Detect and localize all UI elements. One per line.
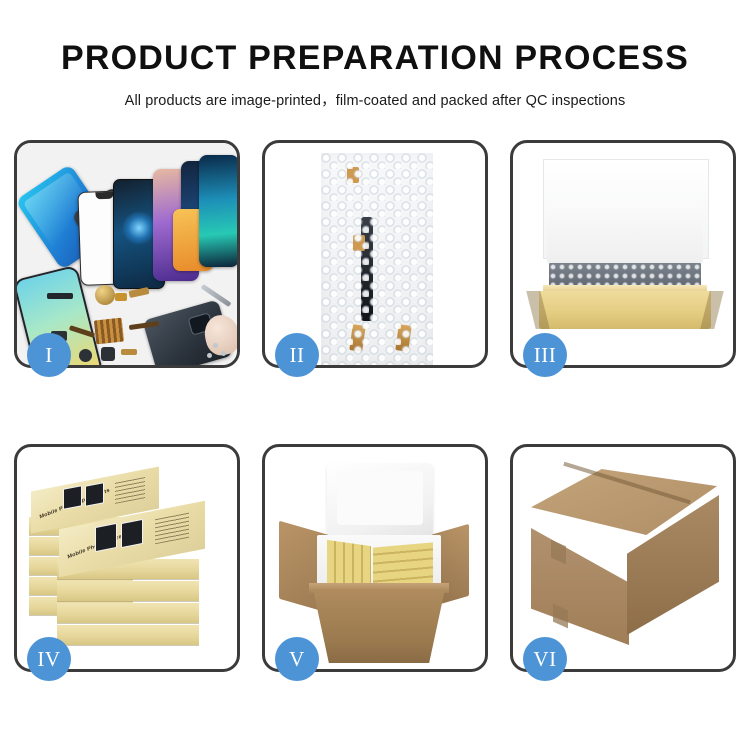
process-step-panel-3[interactable]: III (510, 140, 736, 368)
step-5-illustration (265, 447, 485, 669)
foam-lid-open-icon (327, 463, 433, 537)
step-3-illustration (513, 143, 733, 365)
step-4-illustration: Mobile Phone Spare Parts Mobile Phone Sp… (17, 447, 237, 669)
step-badge-2: II (275, 333, 319, 377)
phone-print-thumbnail (95, 523, 117, 552)
taptic-engine-icon (101, 347, 115, 361)
bubble-wrap-sleeve (321, 153, 433, 365)
vibration-motor-icon (95, 285, 115, 305)
stacked-box (57, 603, 199, 623)
stacked-box (57, 625, 199, 645)
page-title: PRODUCT PREPARATION PROCESS (0, 40, 750, 77)
step-1-illustration (17, 143, 237, 365)
speaker-module-icon (47, 293, 73, 299)
process-step-panel-4[interactable]: Mobile Phone Spare Parts Mobile Phone Sp… (14, 444, 240, 672)
box-stack: Mobile Phone Spare Parts Mobile Phone Sp… (27, 463, 233, 663)
process-step-panel-2[interactable]: II (262, 140, 488, 368)
step-2-illustration (265, 143, 485, 365)
step-badge-6: VI (523, 637, 567, 681)
process-step-panel-1[interactable]: I (14, 140, 240, 368)
phone-screen-cyan-icon (199, 155, 237, 267)
bubble-texture-icon (321, 153, 433, 365)
step-badge-1: I (27, 333, 71, 377)
carton-left-face-icon (531, 515, 629, 645)
step-badge-5: V (275, 637, 319, 681)
phone-print-thumbnail (85, 482, 104, 507)
page-subtitle: All products are image-printed，film-coat… (0, 89, 750, 110)
step-badge-3: III (523, 333, 567, 377)
carton-body-icon (313, 589, 445, 663)
step-6-illustration (513, 447, 733, 669)
screw-icon (207, 353, 212, 358)
phone-print-thumbnail (121, 519, 143, 548)
phone-print-thumbnail (63, 485, 82, 510)
earpiece-icon (79, 349, 92, 362)
page-header: PRODUCT PREPARATION PROCESS All products… (0, 0, 750, 110)
screw-plate-icon (115, 293, 127, 301)
process-step-panel-6[interactable]: VI (510, 444, 736, 672)
process-step-panel-5[interactable]: V (262, 444, 488, 672)
screw-icon (213, 343, 218, 348)
logic-board-chip-icon (94, 318, 124, 345)
foam-insert-icon (547, 201, 703, 263)
yellow-kraft-box-icon (539, 291, 711, 329)
step-badge-4: IV (27, 637, 71, 681)
connector-chip-icon (121, 349, 137, 355)
screw-icon (221, 351, 226, 356)
process-step-grid: I II III (14, 140, 736, 672)
stacked-box (57, 581, 199, 601)
